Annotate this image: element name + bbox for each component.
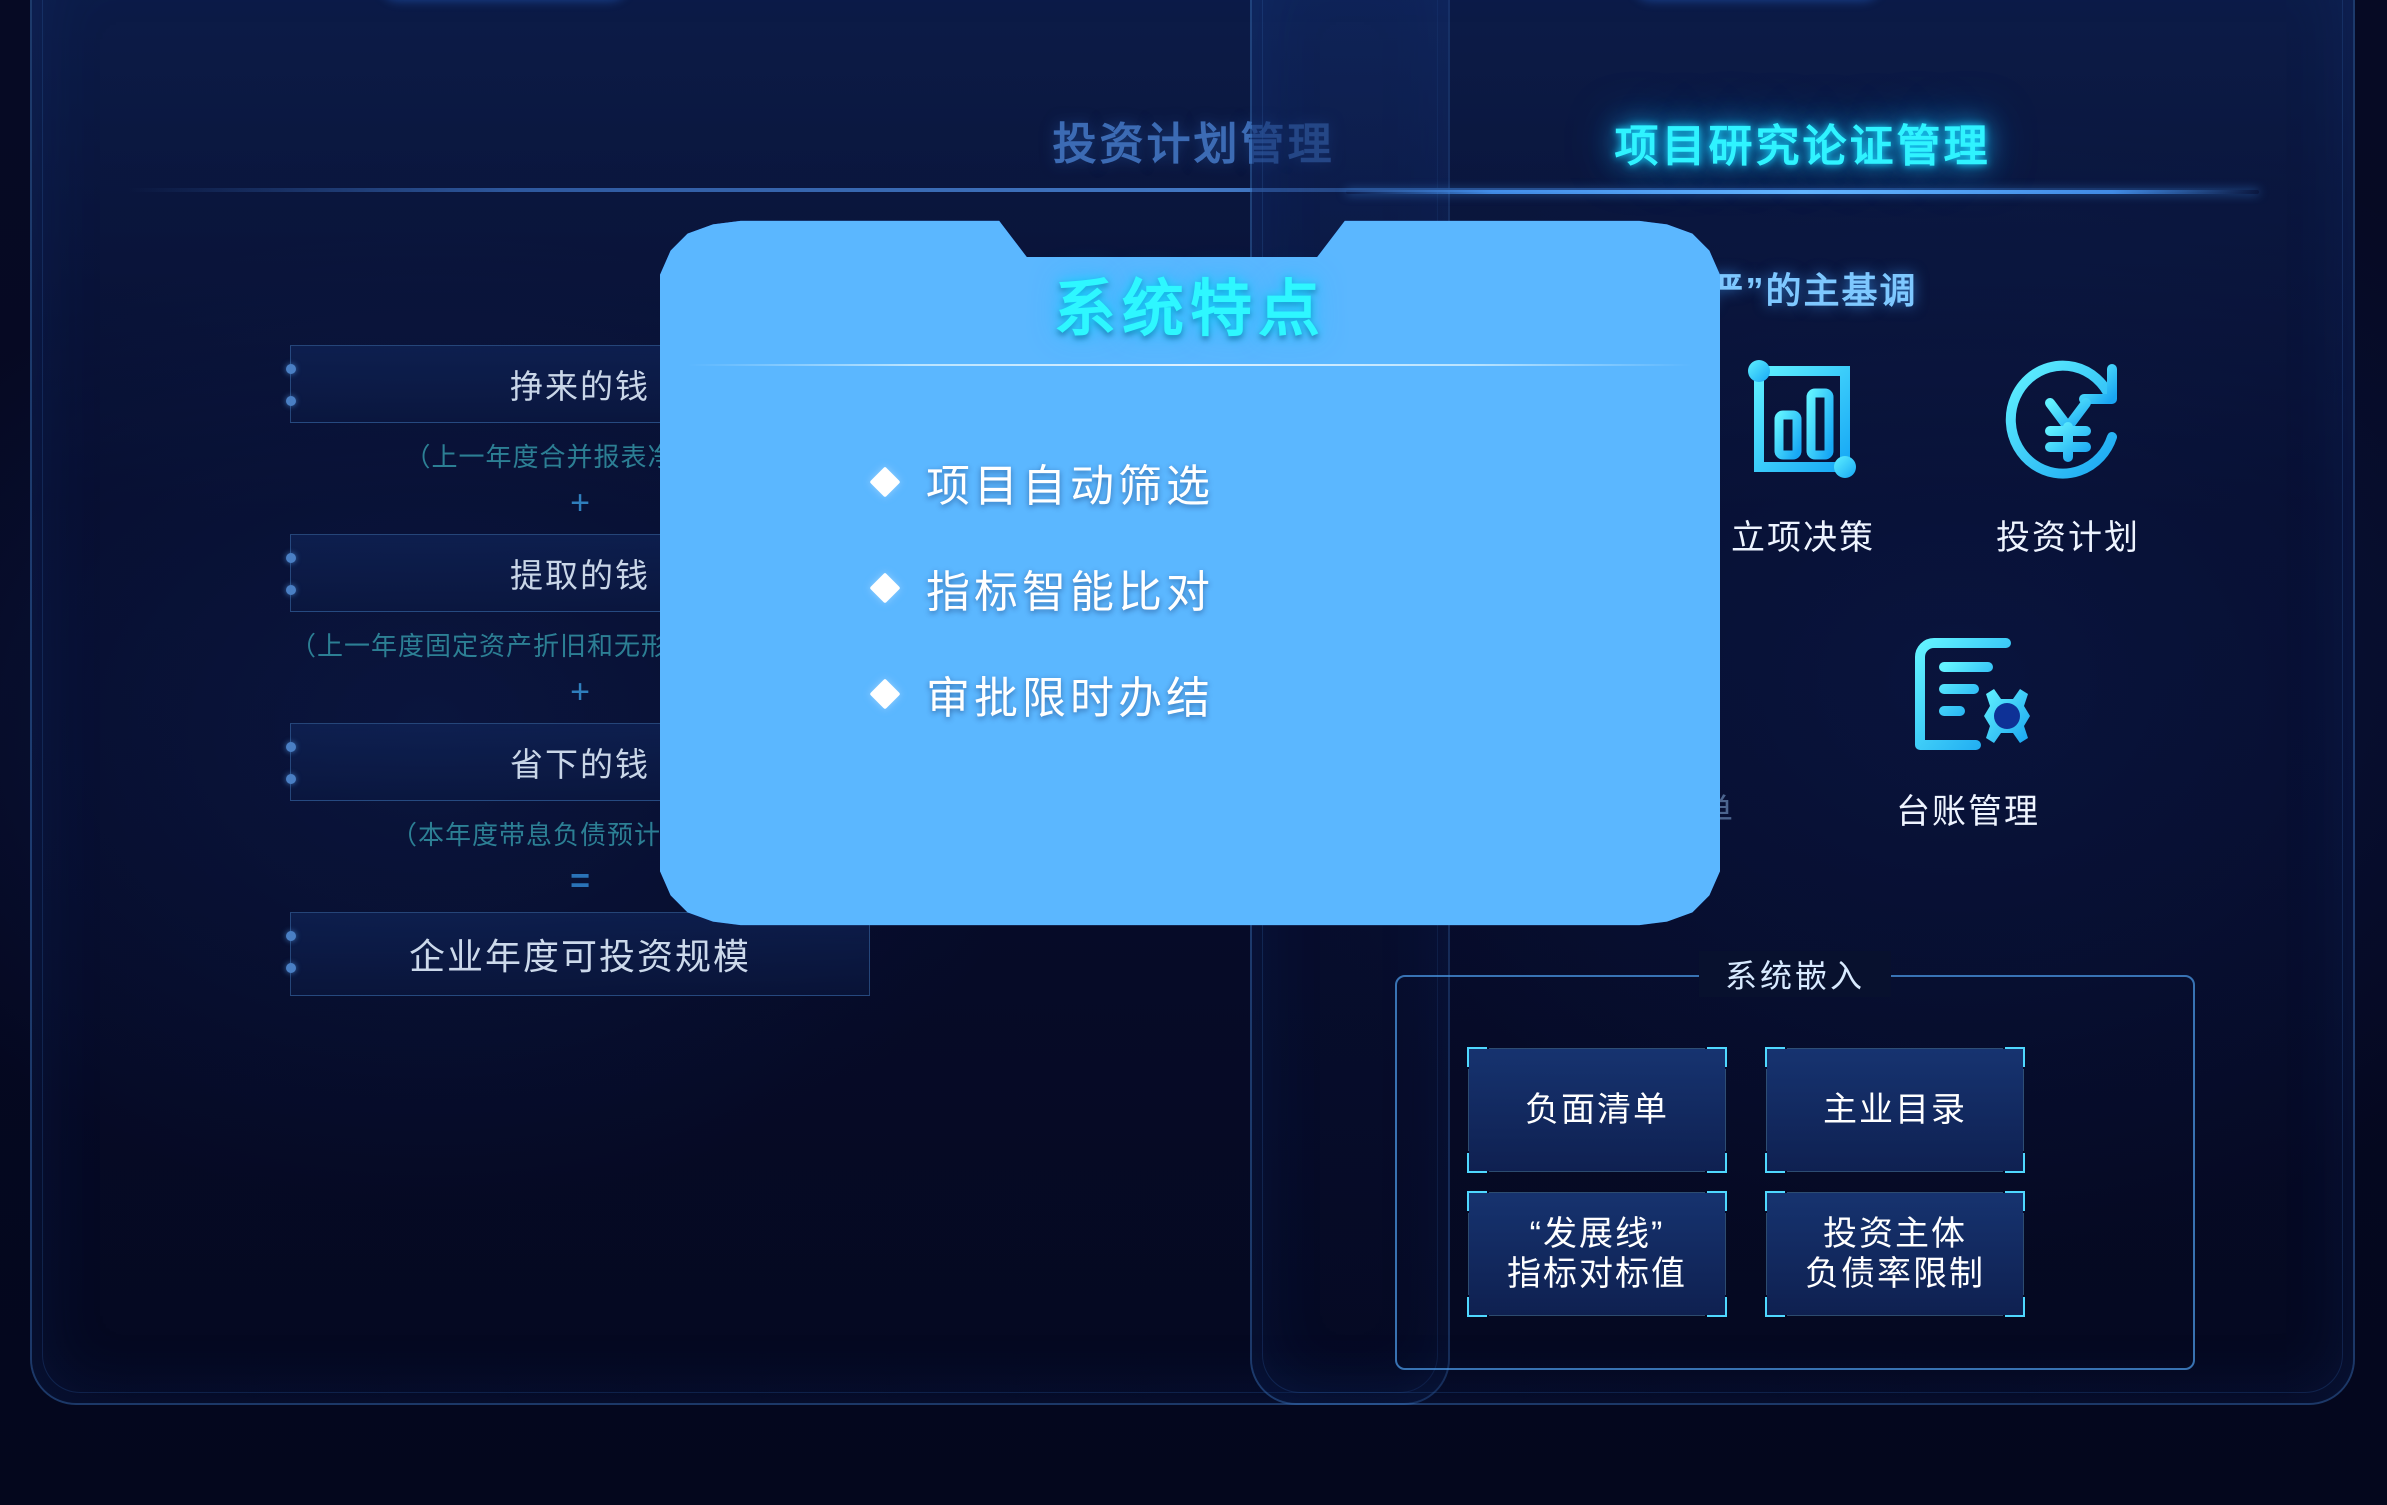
connector-dot bbox=[286, 931, 296, 941]
corner-bracket-icon bbox=[1707, 1047, 1727, 1067]
icon-label: 立项决策 bbox=[1688, 510, 1918, 559]
feature-item-label: 项目自动筛选 bbox=[926, 450, 1214, 514]
box-edge bbox=[1725, 1069, 1726, 1151]
formula-box-label: 挣来的钱 bbox=[510, 360, 650, 408]
corner-bracket-icon bbox=[1707, 1153, 1727, 1173]
box-edge bbox=[1787, 1315, 2003, 1316]
feature-list-item[interactable]: 审批限时办结 bbox=[874, 662, 1214, 726]
box-edge bbox=[1787, 1048, 2003, 1049]
diamond-bullet-icon bbox=[869, 572, 900, 603]
embed-item-label: “发展线” 指标对标值 bbox=[1507, 1214, 1687, 1294]
icon-label: 台账管理 bbox=[1853, 784, 2083, 833]
box-edge bbox=[1489, 1315, 1705, 1316]
corner-bracket-icon bbox=[2005, 1153, 2025, 1173]
right-panel-title: 项目研究论证管理 bbox=[1250, 110, 2355, 174]
corner-bracket-icon bbox=[2005, 1191, 2025, 1211]
box-edge bbox=[1766, 1213, 1767, 1295]
connector-dot bbox=[286, 774, 296, 784]
icon-cell-investment-plan[interactable]: 投资计划 bbox=[1953, 348, 2183, 559]
corner-bracket-icon bbox=[1765, 1153, 1785, 1173]
icon-cell-ledger-management[interactable]: 台账管理 bbox=[1853, 622, 2083, 833]
feature-item-label: 指标智能比对 bbox=[926, 556, 1214, 620]
feature-card-title: 系统特点 bbox=[660, 258, 1720, 348]
box-edge bbox=[2023, 1213, 2024, 1295]
box-edge bbox=[1766, 1069, 1767, 1151]
corner-bracket-icon bbox=[2005, 1047, 2025, 1067]
system-embed-group: 系统嵌入 负面清单 主业 bbox=[1395, 975, 2195, 1370]
corner-bracket-icon bbox=[1707, 1297, 1727, 1317]
box-edge bbox=[1489, 1048, 1705, 1049]
box-edge bbox=[2023, 1069, 2024, 1151]
corner-bracket-icon bbox=[2005, 1297, 2025, 1317]
system-embed-legend: 系统嵌入 bbox=[1699, 951, 1891, 997]
connector-dot bbox=[286, 396, 296, 406]
diamond-bullet-icon bbox=[869, 466, 900, 497]
corner-bracket-icon bbox=[1467, 1191, 1487, 1211]
formula-box-label: 省下的钱 bbox=[510, 738, 650, 786]
feature-card-divider bbox=[688, 364, 1692, 366]
embed-item-label: 投资主体 负债率限制 bbox=[1805, 1214, 1985, 1294]
box-edge bbox=[1489, 1171, 1705, 1172]
system-features-card: 系统特点 项目自动筛选 指标智能比对 审批限时办结 bbox=[660, 218, 1720, 928]
corner-bracket-icon bbox=[1765, 1191, 1785, 1211]
connector-dot bbox=[286, 553, 296, 563]
icon-label: 投资计划 bbox=[1953, 510, 2183, 559]
project-decision-icon bbox=[1688, 348, 1918, 498]
feature-card-list: 项目自动筛选 指标智能比对 审批限时办结 bbox=[874, 450, 1214, 768]
box-edge bbox=[1468, 1213, 1469, 1295]
embed-item-investor-debt-ratio-limit[interactable]: 投资主体 负债率限制 bbox=[1767, 1193, 2023, 1315]
system-embed-grid: 负面清单 主业目录 bbox=[1469, 1049, 2023, 1315]
right-panel-title-divider bbox=[1346, 190, 2259, 194]
formula-box-label: 提取的钱 bbox=[510, 549, 650, 597]
investment-plan-icon bbox=[1953, 348, 2183, 498]
embed-item-main-business-catalog[interactable]: 主业目录 bbox=[1767, 1049, 2023, 1171]
feature-list-item[interactable]: 项目自动筛选 bbox=[874, 450, 1214, 514]
feature-list-item[interactable]: 指标智能比对 bbox=[874, 556, 1214, 620]
connector-dot bbox=[286, 364, 296, 374]
embed-item-label: 负面清单 bbox=[1525, 1090, 1669, 1130]
icon-cell-project-decision[interactable]: 立项决策 bbox=[1688, 348, 1918, 559]
embed-item-label: 主业目录 bbox=[1823, 1090, 1967, 1130]
connector-dot bbox=[286, 963, 296, 973]
corner-bracket-icon bbox=[1765, 1297, 1785, 1317]
embed-item-negative-list[interactable]: 负面清单 bbox=[1469, 1049, 1725, 1171]
corner-bracket-icon bbox=[1467, 1047, 1487, 1067]
embed-item-development-line-benchmark[interactable]: “发展线” 指标对标值 bbox=[1469, 1193, 1725, 1315]
formula-box-label: 企业年度可投资规模 bbox=[409, 928, 751, 980]
box-edge bbox=[1725, 1213, 1726, 1295]
box-edge bbox=[1787, 1192, 2003, 1193]
ledger-management-icon bbox=[1853, 622, 2083, 772]
feature-item-label: 审批限时办结 bbox=[926, 662, 1214, 726]
box-edge bbox=[1468, 1069, 1469, 1151]
connector-dot bbox=[286, 742, 296, 752]
corner-bracket-icon bbox=[1467, 1153, 1487, 1173]
diamond-bullet-icon bbox=[869, 678, 900, 709]
corner-bracket-icon bbox=[1467, 1297, 1487, 1317]
corner-bracket-icon bbox=[1765, 1047, 1785, 1067]
box-edge bbox=[1787, 1171, 2003, 1172]
slide-canvas: 投资计划管理 “量”的高标准 挣来的钱 （上一年度合并报表净利润） + 提取的钱… bbox=[0, 0, 2387, 1505]
corner-bracket-icon bbox=[1707, 1191, 1727, 1211]
connector-dot bbox=[286, 585, 296, 595]
box-edge bbox=[1489, 1192, 1705, 1193]
